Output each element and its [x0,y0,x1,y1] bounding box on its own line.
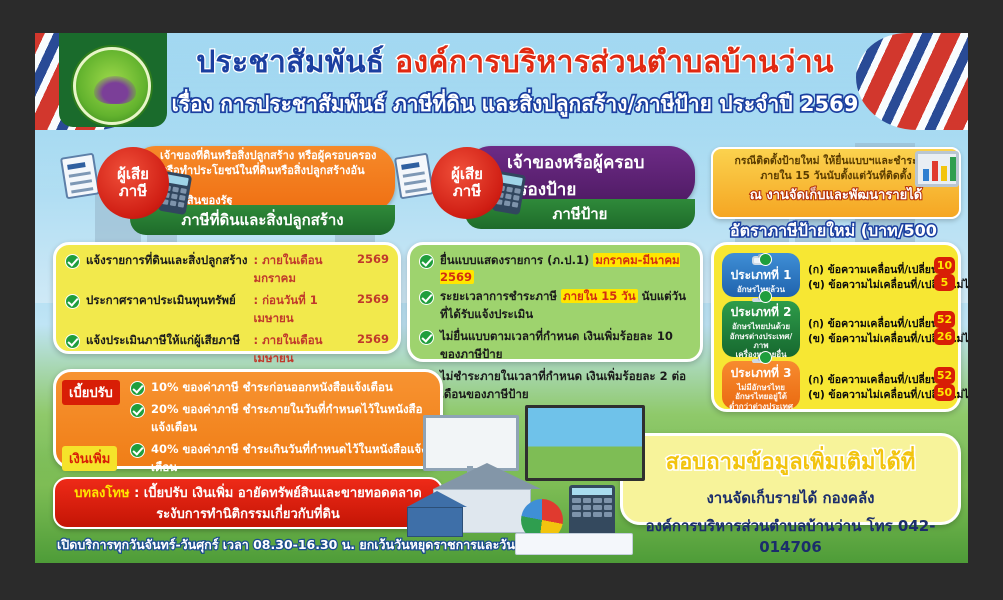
fine-tag-badge: เบี้ยปรับ [62,380,120,405]
legal-line1: : เบี้ยปรับ เงินเพิ่ม อายัดทรัพย์สินและข… [134,486,422,501]
taxpayer-badge-sign-line2: ภาษี [453,183,481,200]
contact-line2: งานจัดเก็บรายได้ กองคลัง [623,486,958,510]
legal-line1-wrap: บทลงโทษ : เบี้ยปรับ เงินเพิ่ม อายัดทรัพย… [74,482,421,503]
land-payer-desc-line-1: หรือทำประโยชน์ในที่ดินหรือสิ่งปลูกสร้างอ… [160,164,381,194]
document-icon-sign [394,153,434,200]
rate-category-3-name: ประเภทที่ 3 [731,364,792,383]
taxpayer-badge-sign-line1: ผู้เสีย [451,166,483,183]
land-tax-schedule-card: แจ้งรายการที่ดินและสิ่งปลูกสร้าง : ภายใน… [53,242,401,354]
schedule-year: 2569 [357,332,389,346]
check-icon [419,254,434,269]
schedule-task: แจ้งประเมินภาษีให้แก่ผู้เสียภาษี [86,332,253,350]
sign-rule-pre: ยื่นแบบแสดงรายการ (ภ.ป.1) [440,253,593,267]
sign-rule-row: ระยะเวลาการชำระภาษี ภายใน 15 วัน นับแต่ว… [419,288,691,324]
schedule-period: : ภายในเดือน มกราคม [253,252,357,288]
small-house-illustration [407,491,467,537]
sign-rule-row: ยื่นแบบแสดงรายการ (ภ.ป.1) มกราคม-มีนาคม … [419,252,691,284]
rate-value-2b: 26 [934,328,955,345]
sign-rule-text: ยื่นแบบแสดงรายการ (ภ.ป.1) มกราคม-มีนาคม … [440,252,691,284]
check-icon [65,334,80,349]
surcharge-tag-badge: เงินเพิ่ม [62,446,117,471]
schedule-row: แจ้งรายการที่ดินและสิ่งปลูกสร้าง : ภายใน… [65,252,389,288]
sign-rule-text: ไม่ยื่นแบบตามเวลาที่กำหนด เงินเพิ่มร้อยล… [440,328,691,364]
contact-box: สอบถามข้อมูลเพิ่มเติมได้ที่ งานจัดเก็บรา… [620,433,961,525]
schedule-row: แจ้งประเมินภาษีให้แก่ผู้เสียภาษี : ภายใน… [65,332,389,368]
rate-category-2: ประเภทที่ 2 อักษรไทยปนด้วย อักษรต่างประเ… [722,301,800,357]
sign-payer-desc-text: เจ้าของหรือผู้ครอบครองป้าย [507,149,681,203]
monitor-chart-icon [915,151,959,187]
check-icon [130,381,145,396]
rate-value-3b: 50 [934,384,955,401]
penalty-row: 10% ของค่าภาษี ชำระก่อนออกหนังสือแจ้งเตื… [130,379,431,397]
penalty-row: 40% ของค่าภาษี ชำระเกินวันที่กำหนดไว้ในห… [130,441,431,477]
contact-heading: สอบถามข้อมูลเพิ่มเติมได้ที่ [623,444,958,479]
sign-rule-highlight: ภายใน 15 วัน [561,289,638,303]
rate-value-3a: 52 [934,367,955,384]
sign-tax-rules-card: ยื่นแบบแสดงรายการ (ภ.ป.1) มกราคม-มีนาคม … [407,242,703,362]
check-icon [419,290,434,305]
check-icon [65,294,80,309]
title-part1: ประชาสัมพันธ์ [196,45,384,80]
rate-category-3-desc: ไม่มีอักษรไทย อักษรไทยอยู่ใต้ ต่ำกว่าต่า… [729,383,793,411]
land-payer-desc-line-0: เจ้าของที่ดินหรือสิ่งปลูกสร้าง หรือผู้คร… [160,149,376,164]
legal-penalty-bar: บทลงโทษ : เบี้ยปรับ เงินเพิ่ม อายัดทรัพย… [53,477,443,529]
sign-rule-text: ระยะเวลาการชำระภาษี ภายใน 15 วัน นับแต่ว… [440,288,691,324]
taxpayer-badge-land-line2: ภาษี [119,183,147,200]
contact-line3: องค์การบริหารส่วนตำบลบ้านว่าน โทร 042-01… [623,514,958,556]
sign-rate-table-card: ประเภทที่ 1 อักษรไทยล้วน (ก) ข้อความเคลื… [711,242,961,412]
penalty-text: 10% ของค่าภาษี ชำระก่อนออกหนังสือแจ้งเตื… [151,379,393,397]
clipboard-check-icon [752,298,770,302]
schedule-year: 2569 [357,292,389,306]
clipboard-check-icon [752,359,770,363]
check-icon [419,330,434,345]
document-icon-land [60,153,100,200]
new-sign-note-line3: ณ งานจัดเก็บและพัฒนารายได้ [719,184,953,205]
document-stack-illustration [515,533,633,555]
rate-value-1a: 10 [934,257,955,274]
billboard-photo-illustration [525,405,645,481]
schedule-task: แจ้งรายการที่ดินและสิ่งปลูกสร้าง [86,252,253,270]
rate-value-1b: 5 [934,274,955,291]
page-subtitle: เรื่อง การประชาสัมพันธ์ ภาษีที่ดิน และสิ… [145,88,885,121]
sign-rule-row: ไม่ยื่นแบบตามเวลาที่กำหนด เงินเพิ่มร้อยล… [419,328,691,364]
sign-rule-row: ไม่ชำระภายในเวลาที่กำหนด เงินเพิ่มร้อยละ… [419,368,691,404]
penalty-text: 20% ของค่าภาษี ชำระภายในวันที่กำหนดไว้ใน… [151,401,431,437]
check-icon [65,254,80,269]
rate-category-3: ประเภทที่ 3 ไม่มีอักษรไทย อักษรไทยอยู่ใต… [722,361,800,409]
org-seal-icon [73,47,151,125]
penalty-text: 40% ของค่าภาษี ชำระเกินวันที่กำหนดไว้ในห… [151,441,431,477]
sign-rule-text: ไม่ชำระภายในเวลาที่กำหนด เงินเพิ่มร้อยละ… [440,368,691,404]
poster-header: ประชาสัมพันธ์ องค์การบริหารส่วนตำบลบ้านว… [35,33,968,130]
sign-rule-pre: ระยะเวลาการชำระภาษี [440,289,561,303]
check-icon [130,403,145,418]
rate-category-1-name: ประเภทที่ 1 [731,266,792,285]
taxpayer-badge-sign: ผู้เสีย ภาษี [431,147,503,219]
sign-tax-category-text: ภาษีป้าย [553,202,608,226]
clipboard-check-icon [752,256,770,265]
land-tax-category-text: ภาษีที่ดินและสิ่งปลูกสร้าง [181,208,343,232]
penalty-row: 20% ของค่าภาษี ชำระภายในวันที่กำหนดไว้ใน… [130,401,431,437]
legal-line2: ระงับการทำนิติกรรมเกี่ยวกับที่ดิน [156,503,340,524]
schedule-task: ประกาศราคาประเมินทุนทรัพย์ [86,292,253,310]
page-title: ประชาสัมพันธ์ องค์การบริหารส่วนตำบลบ้านว… [165,47,865,79]
taxpayer-badge-land: ผู้เสีย ภาษี [97,147,169,219]
taxpayer-badge-land-line1: ผู้เสีย [117,166,149,183]
schedule-row: ประกาศราคาประเมินทุนทรัพย์ : ก่อนวันที่ … [65,292,389,328]
schedule-period: : ก่อนวันที่ 1 เมษายน [253,292,357,328]
penalty-card: เบี้ยปรับ เงินเพิ่ม 10% ของค่าภาษี ชำระก… [53,369,443,469]
schedule-year: 2569 [357,252,389,266]
rate-category-2-name: ประเภทที่ 2 [731,303,792,322]
poster-canvas: ประชาสัมพันธ์ องค์การบริหารส่วนตำบลบ้านว… [35,33,968,563]
legal-tag: บทลงโทษ [74,486,129,501]
schedule-period: : ภายในเดือน เมษายน [253,332,357,368]
title-part2: องค์การบริหารส่วนตำบลบ้านว่าน [395,45,834,80]
check-icon [130,443,145,458]
rate-value-2a: 52 [934,311,955,328]
